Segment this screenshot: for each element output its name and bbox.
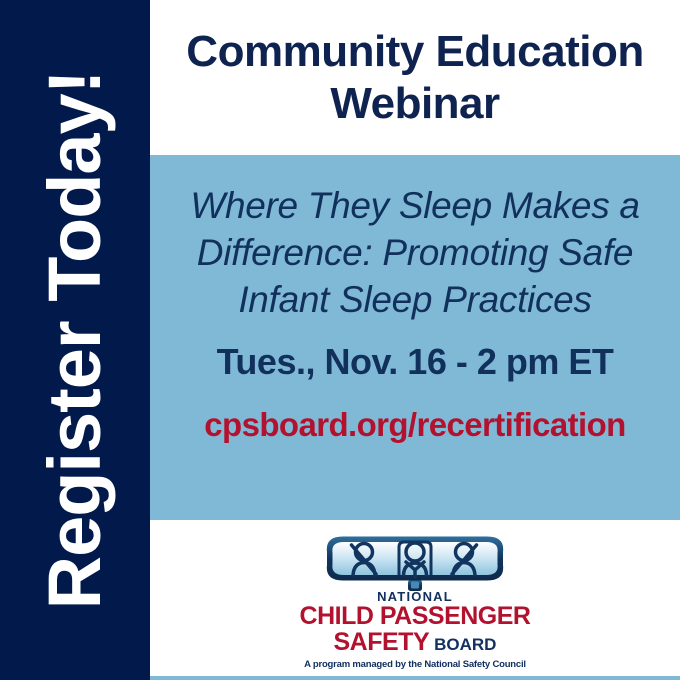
logo-tagline: A program managed by the National Safety… — [300, 660, 531, 670]
logo-word-safety: SAFETY — [334, 628, 430, 656]
webinar-datetime: Tues., Nov. 16 - 2 pm ET — [217, 342, 614, 382]
logo-word-board: BOARD — [434, 635, 496, 654]
page-title: Community Education Webinar — [150, 26, 680, 130]
webinar-promo-poster: Register Today! Community Education Webi… — [0, 0, 680, 680]
logo-area: NATIONAL CHILD PASSENGER SAFETYBOARD A p… — [150, 520, 680, 680]
logo-wordmark: NATIONAL CHILD PASSENGER SAFETYBOARD A p… — [300, 590, 531, 670]
bottom-accent-rule — [150, 676, 680, 680]
rearview-mirror-icon — [320, 532, 510, 594]
content-panel: Where They Sleep Makes a Difference: Pro… — [150, 155, 680, 520]
register-today-text: Register Today! — [38, 71, 112, 610]
registration-url[interactable]: cpsboard.org/recertification — [204, 407, 625, 443]
header-block: Community Education Webinar — [150, 0, 680, 155]
logo-line-child-passenger: CHILD PASSENGER — [300, 604, 531, 630]
webinar-subtitle: Where They Sleep Makes a Difference: Pro… — [169, 183, 661, 324]
sidebar-panel: Register Today! — [0, 0, 150, 680]
logo-line-safety-board: SAFETYBOARD — [300, 630, 531, 656]
